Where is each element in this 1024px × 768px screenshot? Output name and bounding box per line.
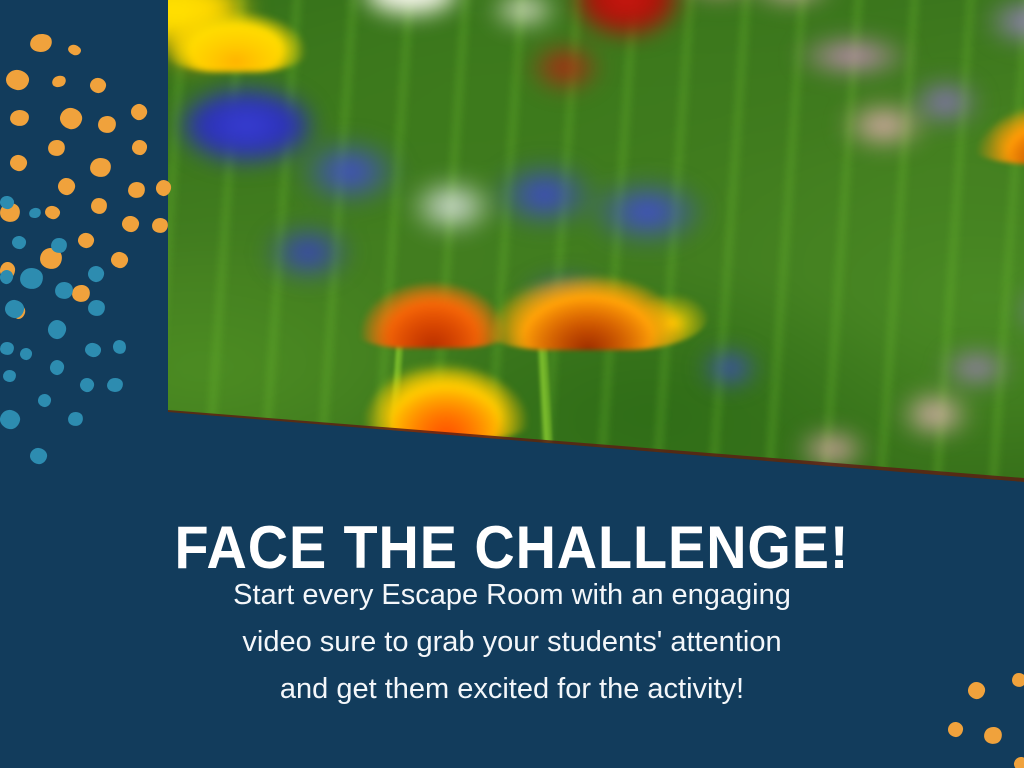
flower-yellow-topleft xyxy=(168,0,316,72)
page-title: FACE THE CHALLENGE! xyxy=(36,518,988,578)
slide-canvas: FACE THE CHALLENGE! Start every Escape R… xyxy=(0,0,1024,768)
body-text: Start every Escape Room with an engaging… xyxy=(112,572,912,713)
body-line: video sure to grab your students' attent… xyxy=(112,619,912,666)
wildflower-photo xyxy=(168,0,1024,482)
body-line: Start every Escape Room with an engaging xyxy=(112,572,912,619)
photo-image xyxy=(168,0,1024,482)
body-line: and get them excited for the activity! xyxy=(112,666,912,713)
